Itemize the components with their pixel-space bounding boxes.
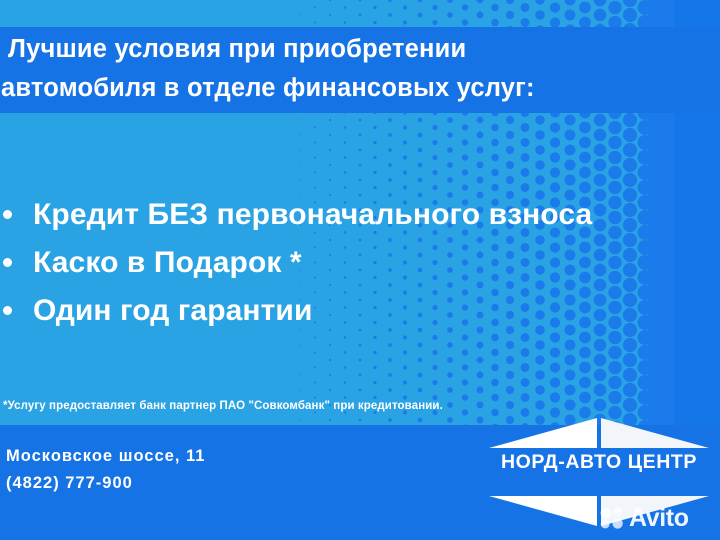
logo-chevron-up-icon [483,418,715,452]
contact-info: Московское шоссе, 11 (4822) 777-900 [6,443,205,497]
page-title-line2: автомобиля в отделе финансовых услуг: [1,69,714,108]
offer-list: Кредит БЕЗ первоначального взноса Каско … [0,192,720,336]
list-item: Кредит БЕЗ первоначального взноса [0,192,720,237]
avito-dots-icon [600,507,626,529]
bullet-dot-icon [3,258,12,267]
phone-line[interactable]: (4822) 777-900 [6,470,205,497]
address-line: Московское шоссе, 11 [6,443,205,470]
bullet-dot-icon [3,210,12,219]
disclaimer-text: *Услугу предоставляет банк партнер ПАО "… [3,400,443,412]
promo-banner: Лучшие условия при приобретении автомоби… [0,0,720,540]
list-item: Каско в Подарок * [0,240,720,285]
avito-watermark: Avito [600,503,689,533]
page-title: Лучшие условия при приобретении автомоби… [8,30,714,108]
offer-label: Каско в Подарок * [33,246,302,280]
avito-wordmark: Avito [629,505,689,531]
page-title-line1: Лучшие условия при приобретении [8,35,466,63]
offer-label: Один год гарантии [33,294,313,328]
bullet-dot-icon [3,306,12,315]
offer-label: Кредит БЕЗ первоначального взноса [33,198,592,232]
logo-name: НОРД-АВТО ЦЕНТР [483,451,715,474]
list-item: Один год гарантии [0,288,720,333]
